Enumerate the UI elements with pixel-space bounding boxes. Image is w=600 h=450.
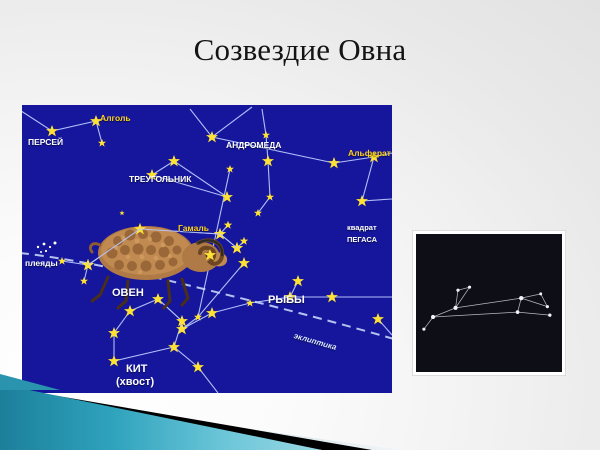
- star-map[interactable]: ПЕРСЕЙ Алголь АНДРОМЕДА Альферат ТРЕУГОЛ…: [22, 105, 392, 393]
- aries-inset-graphics: [416, 234, 562, 372]
- star-dots: [37, 115, 384, 372]
- aries-inset-canvas: [416, 234, 562, 372]
- aries-inset-photo[interactable]: [413, 231, 565, 375]
- slide-canvas: Созвездие Овна: [0, 0, 600, 450]
- page-title: Созвездие Овна: [0, 30, 600, 70]
- slide-decoration: [0, 360, 600, 450]
- star-map-graphics: [22, 105, 392, 393]
- decoration-bands: [0, 360, 600, 450]
